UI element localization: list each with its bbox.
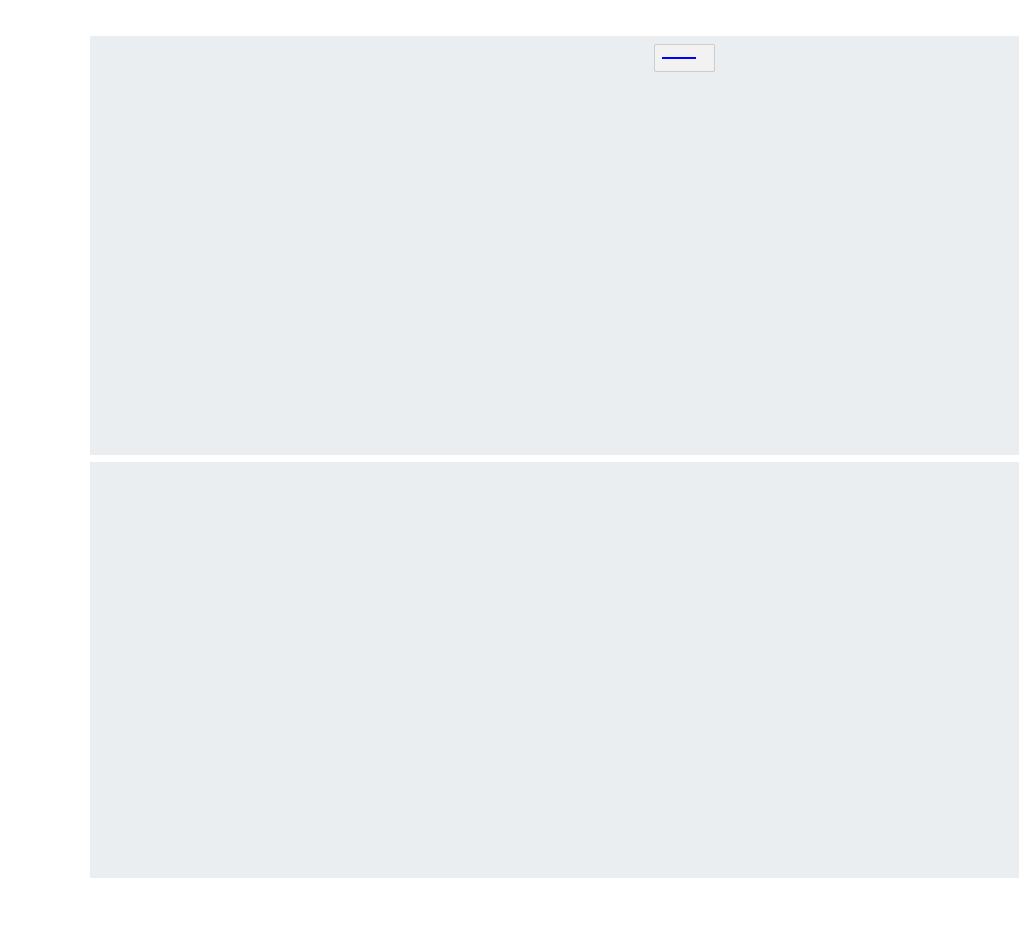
legend-line-swatch	[662, 57, 696, 59]
legend[interactable]	[654, 44, 715, 72]
chart-figure	[0, 0, 1029, 942]
box-plot-svg	[90, 36, 1019, 455]
bar-chart-svg	[90, 462, 1019, 878]
bar-chart-panel	[90, 462, 1019, 878]
box-plot-panel	[90, 36, 1019, 455]
